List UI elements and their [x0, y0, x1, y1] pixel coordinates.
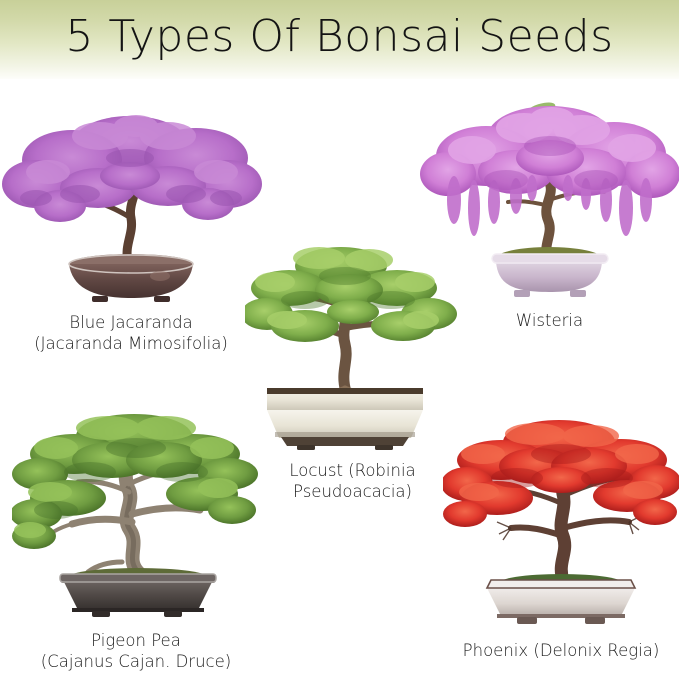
caption-line2: Pseudoacacia)	[245, 481, 460, 502]
caption-jacaranda: Blue Jacaranda (Jacaranda Mimosifolia)	[0, 312, 262, 354]
caption-pigeonpea: Pigeon Pea (Cajanus Cajan. Druce)	[12, 630, 260, 672]
caption-line1: Blue Jacaranda	[69, 313, 192, 332]
bonsai-image-locust	[245, 232, 460, 460]
page-title: 5 Types Of Bonsai Seeds	[0, 6, 679, 68]
bonsai-image-pigeonpea	[12, 402, 260, 630]
header-banner: 5 Types Of Bonsai Seeds	[0, 0, 679, 79]
caption-line1: Phoenix (Delonix Regia)	[463, 641, 660, 660]
caption-line1: Locust (Robinia	[289, 461, 415, 480]
bonsai-image-phoenix	[443, 412, 679, 640]
bonsai-image-jacaranda	[0, 84, 262, 314]
caption-line1: Pigeon Pea	[91, 631, 181, 650]
caption-line2: (Jacaranda Mimosifolia)	[0, 333, 262, 354]
caption-line1: Wisteria	[516, 311, 583, 330]
caption-line2: (Cajanus Cajan. Druce)	[12, 651, 260, 672]
caption-phoenix: Phoenix (Delonix Regia)	[443, 640, 679, 661]
caption-locust: Locust (Robinia Pseudoacacia)	[245, 460, 460, 502]
